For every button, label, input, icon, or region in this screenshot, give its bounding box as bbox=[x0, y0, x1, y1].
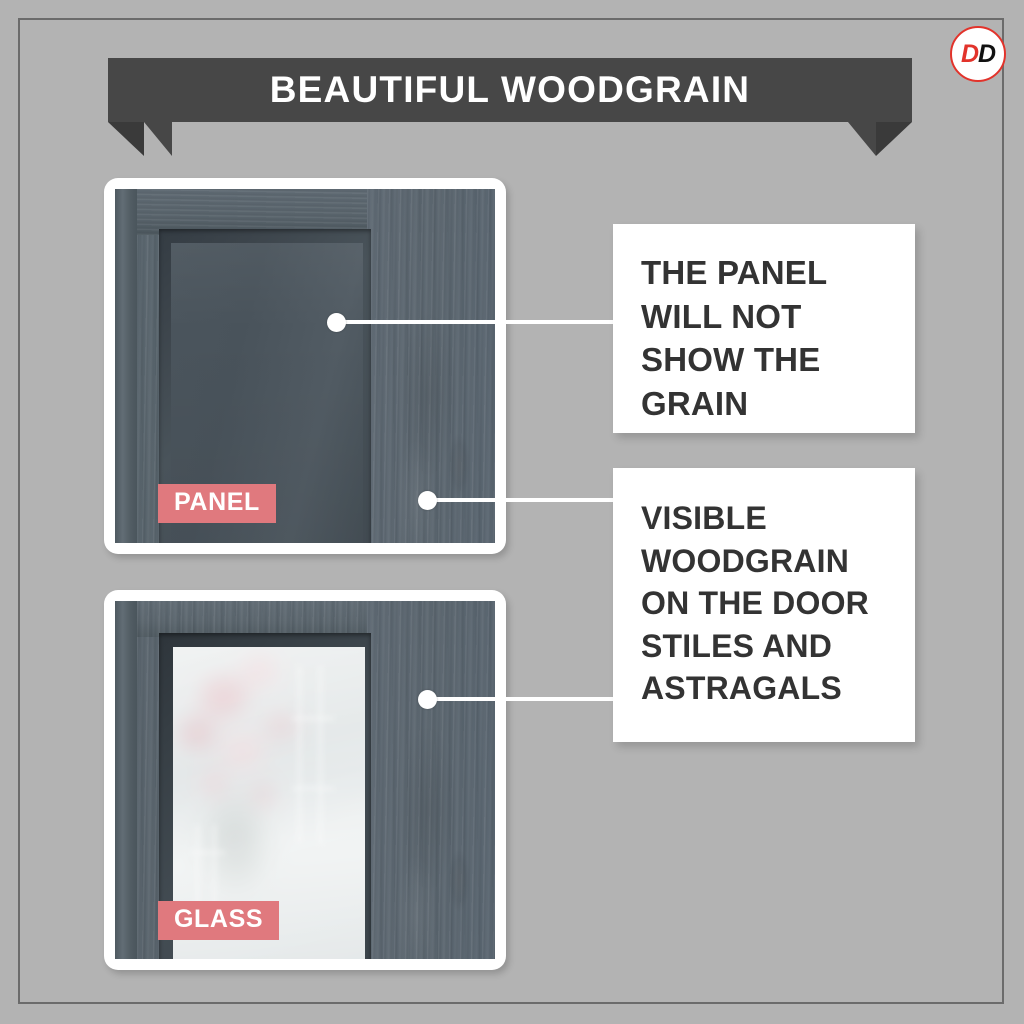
brand-letter-second: D bbox=[978, 40, 995, 68]
callout-text-panel-no-grain: THE PANEL WILL NOT SHOW THE GRAIN bbox=[641, 251, 915, 425]
brand-logo-badge[interactable]: DD bbox=[950, 26, 1006, 82]
leader-line-stile-top bbox=[427, 498, 618, 502]
glass-stile-knot-marks bbox=[367, 601, 495, 959]
brand-letter-first: D bbox=[961, 40, 978, 68]
door-left-edge-moulding bbox=[115, 189, 137, 543]
brand-logo-text: DD bbox=[961, 42, 995, 67]
door-right-stile bbox=[367, 189, 495, 543]
infographic-page: DD BEAUTIFUL WOODGRAIN bbox=[0, 0, 1024, 1024]
page-title: BEAUTIFUL WOODGRAIN bbox=[108, 58, 912, 122]
wood-knot-marks bbox=[367, 189, 495, 543]
glass-door-right-stile bbox=[367, 601, 495, 959]
callout-dot-panel[interactable] bbox=[327, 313, 346, 332]
callout-box-panel-no-grain: THE PANEL WILL NOT SHOW THE GRAIN bbox=[613, 224, 915, 433]
glass-rail-grain-texture bbox=[137, 601, 367, 637]
callout-dot-stile-top[interactable] bbox=[418, 491, 437, 510]
glass-door-top-rail bbox=[137, 601, 367, 637]
leader-line-stile-bottom bbox=[427, 697, 618, 701]
callout-dot-stile-bottom[interactable] bbox=[418, 690, 437, 709]
banner-ribbon: BEAUTIFUL WOODGRAIN bbox=[108, 58, 912, 156]
tag-glass: GLASS bbox=[158, 901, 279, 940]
callout-text-visible-woodgrain: VISIBLE WOODGRAIN ON THE DOOR STILES AND… bbox=[641, 497, 915, 710]
glass-door-left-edge-moulding bbox=[115, 601, 137, 959]
callout-box-visible-woodgrain: VISIBLE WOODGRAIN ON THE DOOR STILES AND… bbox=[613, 468, 915, 742]
leader-line-panel bbox=[336, 320, 618, 324]
tag-panel: PANEL bbox=[158, 484, 276, 523]
